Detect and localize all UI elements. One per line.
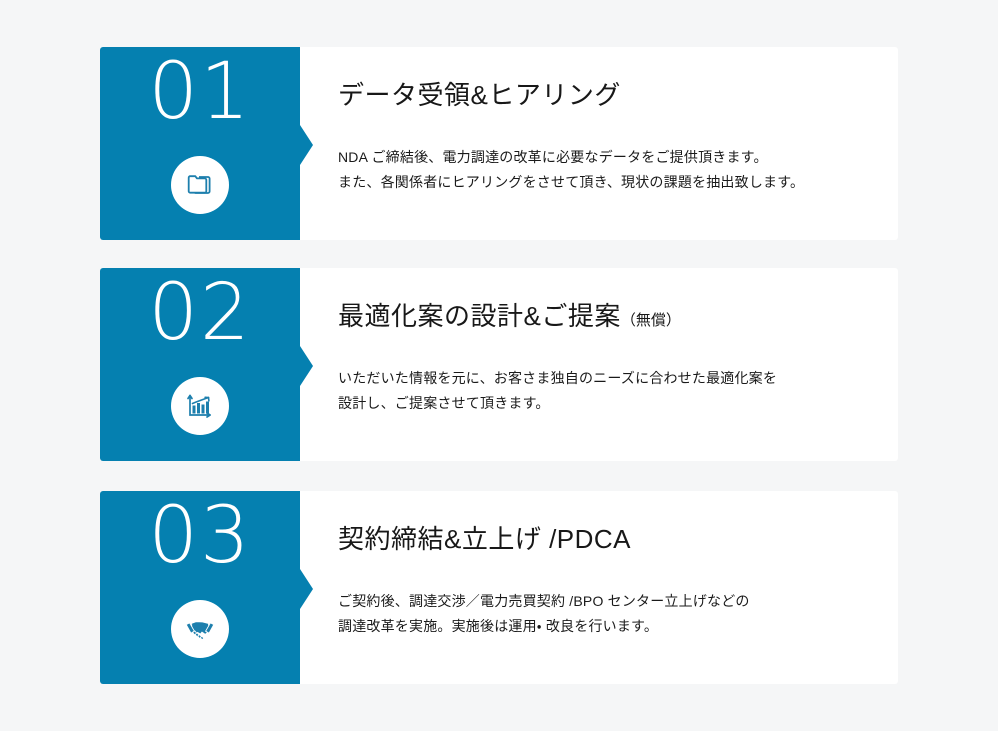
step-title-text: 最適化案の設計&ご提案 [338,301,621,331]
step-number: 01 [100,53,300,131]
step-content: 契約締結&立上げ /PDCA ご契約後、調達交渉／電力売買契約 /BPO センタ… [338,491,883,684]
step-title-text: 契約締結&立上げ /PDCA [338,524,631,554]
step-title-text: データ受領&ヒアリング [338,80,621,110]
step-badge: 02 [100,268,300,461]
step-title: データ受領&ヒアリング [338,80,621,111]
step-description-line: 設計し、ご提案させて頂きます。 [338,391,777,416]
step-title-note: （無償） [621,312,681,329]
process-step-card: 01 データ受領&ヒアリング NDA ご締結後、電力調達の改革に必要なデータをご… [100,47,898,240]
step-badge-arrow-icon [300,569,313,609]
step-badge-arrow-icon [300,346,313,386]
step-description: NDA ご締結後、電力調達の改革に必要なデータをご提供頂きます。 また、各関係者… [338,145,804,195]
step-content: データ受領&ヒアリング NDA ご締結後、電力調達の改革に必要なデータをご提供頂… [338,47,883,240]
step-badge-arrow-icon [300,125,313,165]
step-description-line: NDA ご締結後、電力調達の改革に必要なデータをご提供頂きます。 [338,145,804,170]
handshake-icon [171,600,229,658]
step-number: 03 [100,497,300,575]
bar-chart-growth-icon [171,377,229,435]
step-title: 最適化案の設計&ご提案（無償） [338,301,681,332]
step-title: 契約締結&立上げ /PDCA [338,524,631,555]
step-badge: 01 [100,47,300,240]
process-steps-list: 01 データ受領&ヒアリング NDA ご締結後、電力調達の改革に必要なデータをご… [0,0,998,731]
step-description-line: また、各関係者にヒアリングをさせて頂き、現状の課題を抽出致します。 [338,170,804,195]
step-description-line: ご契約後、調達交渉／電力売買契約 /BPO センター立上げなどの [338,589,750,614]
process-step-card: 02 [100,268,898,461]
folders-icon [171,156,229,214]
step-description: ご契約後、調達交渉／電力売買契約 /BPO センター立上げなどの 調達改革を実施… [338,589,750,639]
step-description-line: 調達改革を実施。実施後は運用・ 改良を行います。 [338,614,750,639]
step-number: 02 [100,274,300,352]
step-description-line: いただいた情報を元に、お客さま独自のニーズに合わせた最適化案を [338,366,777,391]
process-step-card: 03 [100,491,898,684]
step-content: 最適化案の設計&ご提案（無償） いただいた情報を元に、お客さま独自のニーズに合わ… [338,268,883,461]
step-badge: 03 [100,491,300,684]
step-description: いただいた情報を元に、お客さま独自のニーズに合わせた最適化案を 設計し、ご提案さ… [338,366,777,416]
